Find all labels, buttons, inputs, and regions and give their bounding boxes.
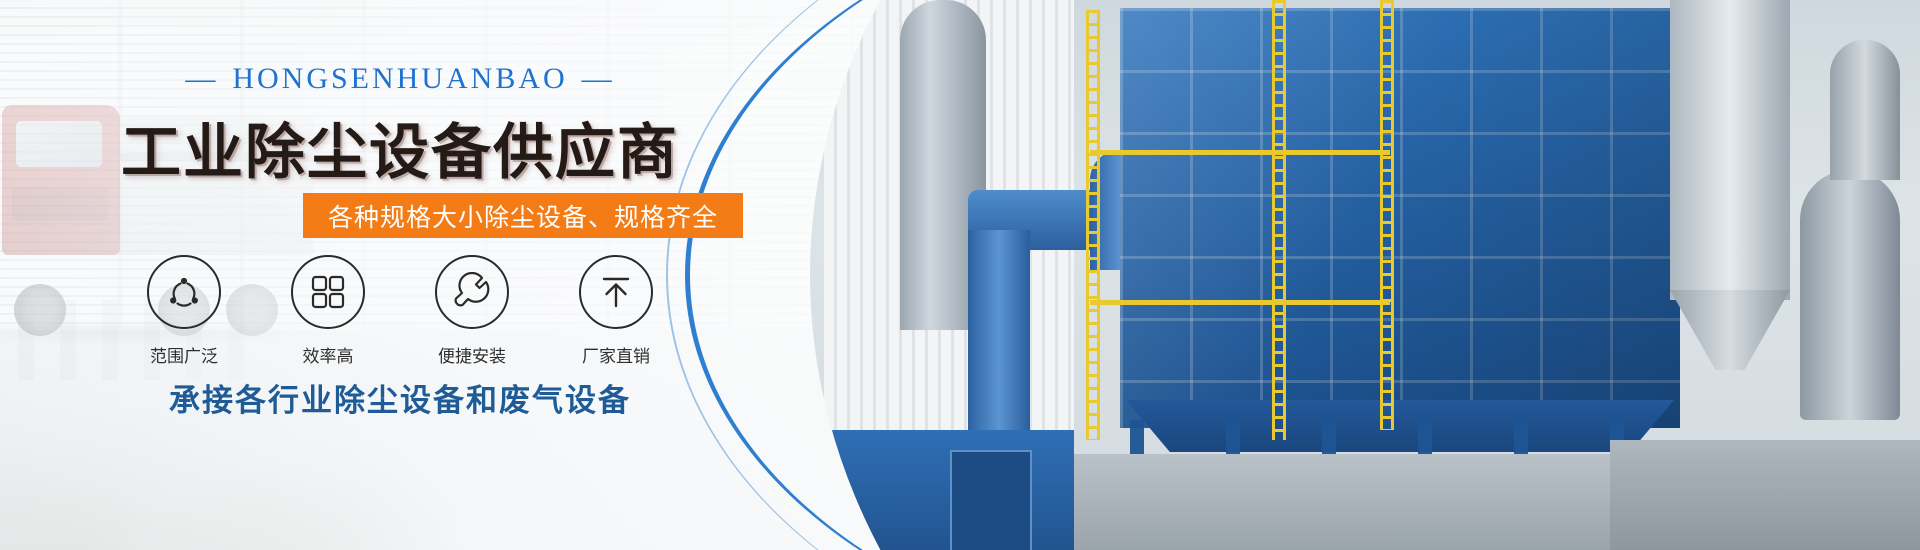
metal-tank <box>1800 170 1900 420</box>
baghouse-dust-collector <box>1120 8 1680 428</box>
feature-label: 范围广泛 <box>150 342 218 367</box>
feature-item-factory-direct[interactable]: 厂家直销 <box>575 255 657 367</box>
highlight-bar: 各种规格大小除尘设备、规格齐全 <box>303 193 743 238</box>
feature-label: 厂家直销 <box>582 342 650 367</box>
feature-item-range[interactable]: 范围广泛 <box>143 255 225 367</box>
hero-banner: —HONGSENHUANBAO— 工业除尘设备供应商 各种规格大小除尘设备、规格… <box>0 0 1920 550</box>
upload-arrow-icon <box>579 255 653 329</box>
metal-silo <box>1670 0 1790 300</box>
feature-item-efficiency[interactable]: 效率高 <box>287 255 369 367</box>
share-network-icon <box>147 255 221 329</box>
banner-content: —HONGSENHUANBAO— 工业除尘设备供应商 各种规格大小除尘设备、规格… <box>0 0 1010 550</box>
eyebrow-dash-right: — <box>582 62 615 96</box>
tagline: 承接各行业除尘设备和废气设备 <box>0 375 800 420</box>
metal-tank-small <box>1830 40 1900 180</box>
yellow-handrail <box>1090 150 1390 155</box>
grid-squares-icon <box>291 255 365 329</box>
yellow-ladder <box>1086 10 1100 440</box>
eyebrow-dash-left: — <box>185 62 218 96</box>
baghouse-shading <box>1120 8 1680 428</box>
highlight-bar-text: 各种规格大小除尘设备、规格齐全 <box>328 198 718 234</box>
wrench-icon <box>435 255 509 329</box>
feature-label: 便捷安装 <box>438 342 506 367</box>
feature-list: 范围广泛 效率高 <box>0 255 800 367</box>
brand-eyebrow: —HONGSENHUANBAO— <box>0 62 800 96</box>
feature-item-installation[interactable]: 便捷安装 <box>431 255 513 367</box>
yellow-handrail <box>1090 300 1390 305</box>
yellow-ladder <box>1380 0 1394 430</box>
factory-ground-right <box>1610 440 1920 550</box>
page-title: 工业除尘设备供应商 <box>0 104 800 191</box>
yellow-ladder <box>1272 0 1286 440</box>
feature-label: 效率高 <box>303 342 354 367</box>
eyebrow-text: HONGSENHUANBAO <box>232 62 567 95</box>
